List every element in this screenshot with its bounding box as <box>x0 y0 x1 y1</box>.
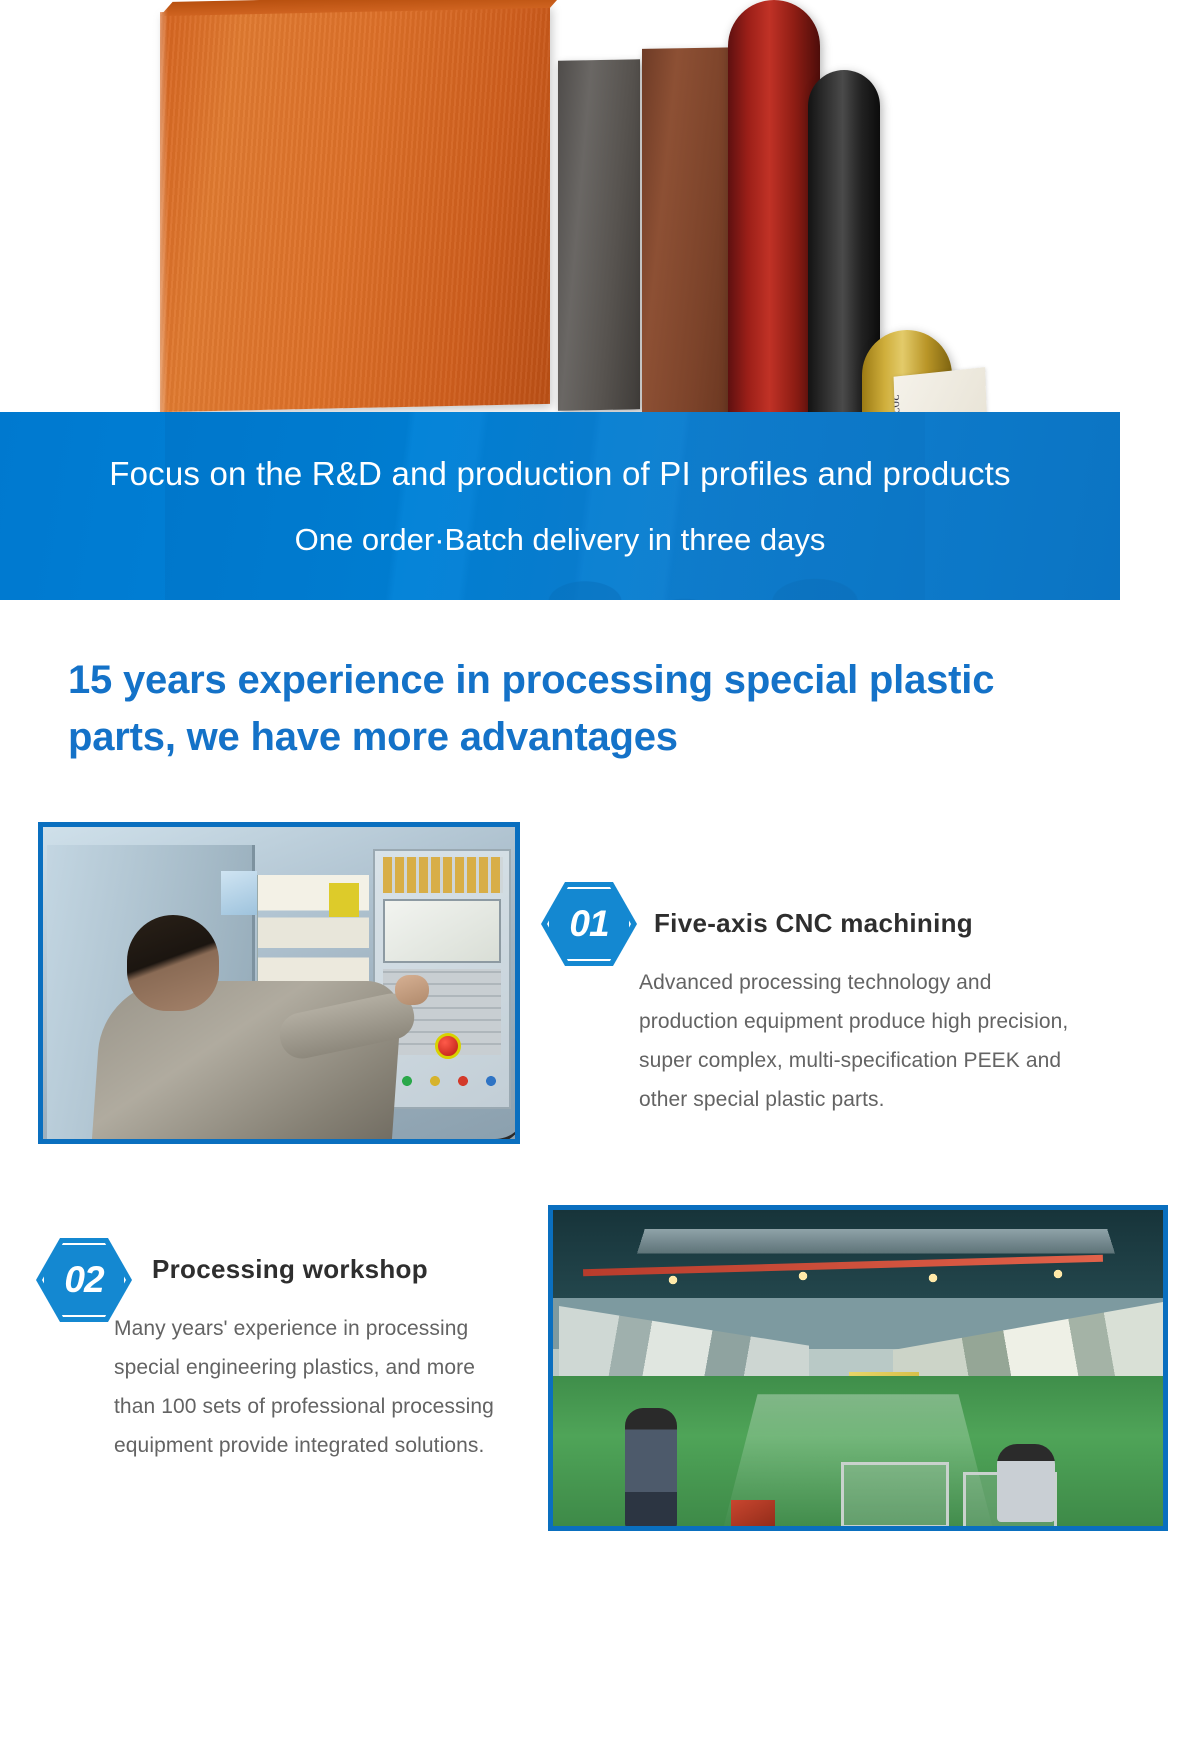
grey-plate <box>558 59 640 410</box>
red-crate <box>731 1500 775 1530</box>
orange-phenolic-sheet <box>160 4 550 412</box>
operator-head <box>127 915 219 1011</box>
cnc-display-screen <box>383 899 501 963</box>
worker-2 <box>997 1444 1055 1522</box>
feature-badge-01: 01 <box>541 882 637 966</box>
feature-title-02: Processing workshop <box>152 1254 428 1285</box>
cnc-blue-sticker <box>221 871 257 915</box>
worker-1 <box>625 1408 677 1528</box>
product-photo: 2021.03.0 φ25*1 <box>150 0 1050 470</box>
cnc-warning-sticker <box>329 883 359 917</box>
section-headline: 15 years experience in processing specia… <box>68 652 1078 766</box>
ceiling-lamps <box>553 1238 1168 1298</box>
cnc-emergency-stop <box>435 1033 461 1059</box>
banner-line-2: One order·Batch delivery in three days <box>0 519 1120 561</box>
workshop-photo <box>548 1205 1168 1531</box>
badge-number: 01 <box>541 882 637 966</box>
banner-text-block: Focus on the R&D and production of PI pr… <box>0 412 1120 560</box>
feature-body-02: Many years' experience in processing spe… <box>114 1310 518 1465</box>
material-cart-1 <box>841 1462 949 1528</box>
feature-body-01: Advanced processing technology and produ… <box>639 964 1071 1119</box>
feature-title-01: Five-axis CNC machining <box>654 908 973 939</box>
tagline-banner: Focus on the R&D and production of PI pr… <box>0 412 1120 600</box>
red-rod <box>728 0 820 430</box>
cnc-operator-photo <box>38 822 520 1144</box>
operator-hand <box>395 975 429 1005</box>
cnc-cable <box>447 1115 520 1143</box>
cnc-indicator-lights <box>395 1071 513 1091</box>
cnc-keypad-top <box>383 857 503 893</box>
banner-line-1: Focus on the R&D and production of PI pr… <box>0 452 1120 497</box>
